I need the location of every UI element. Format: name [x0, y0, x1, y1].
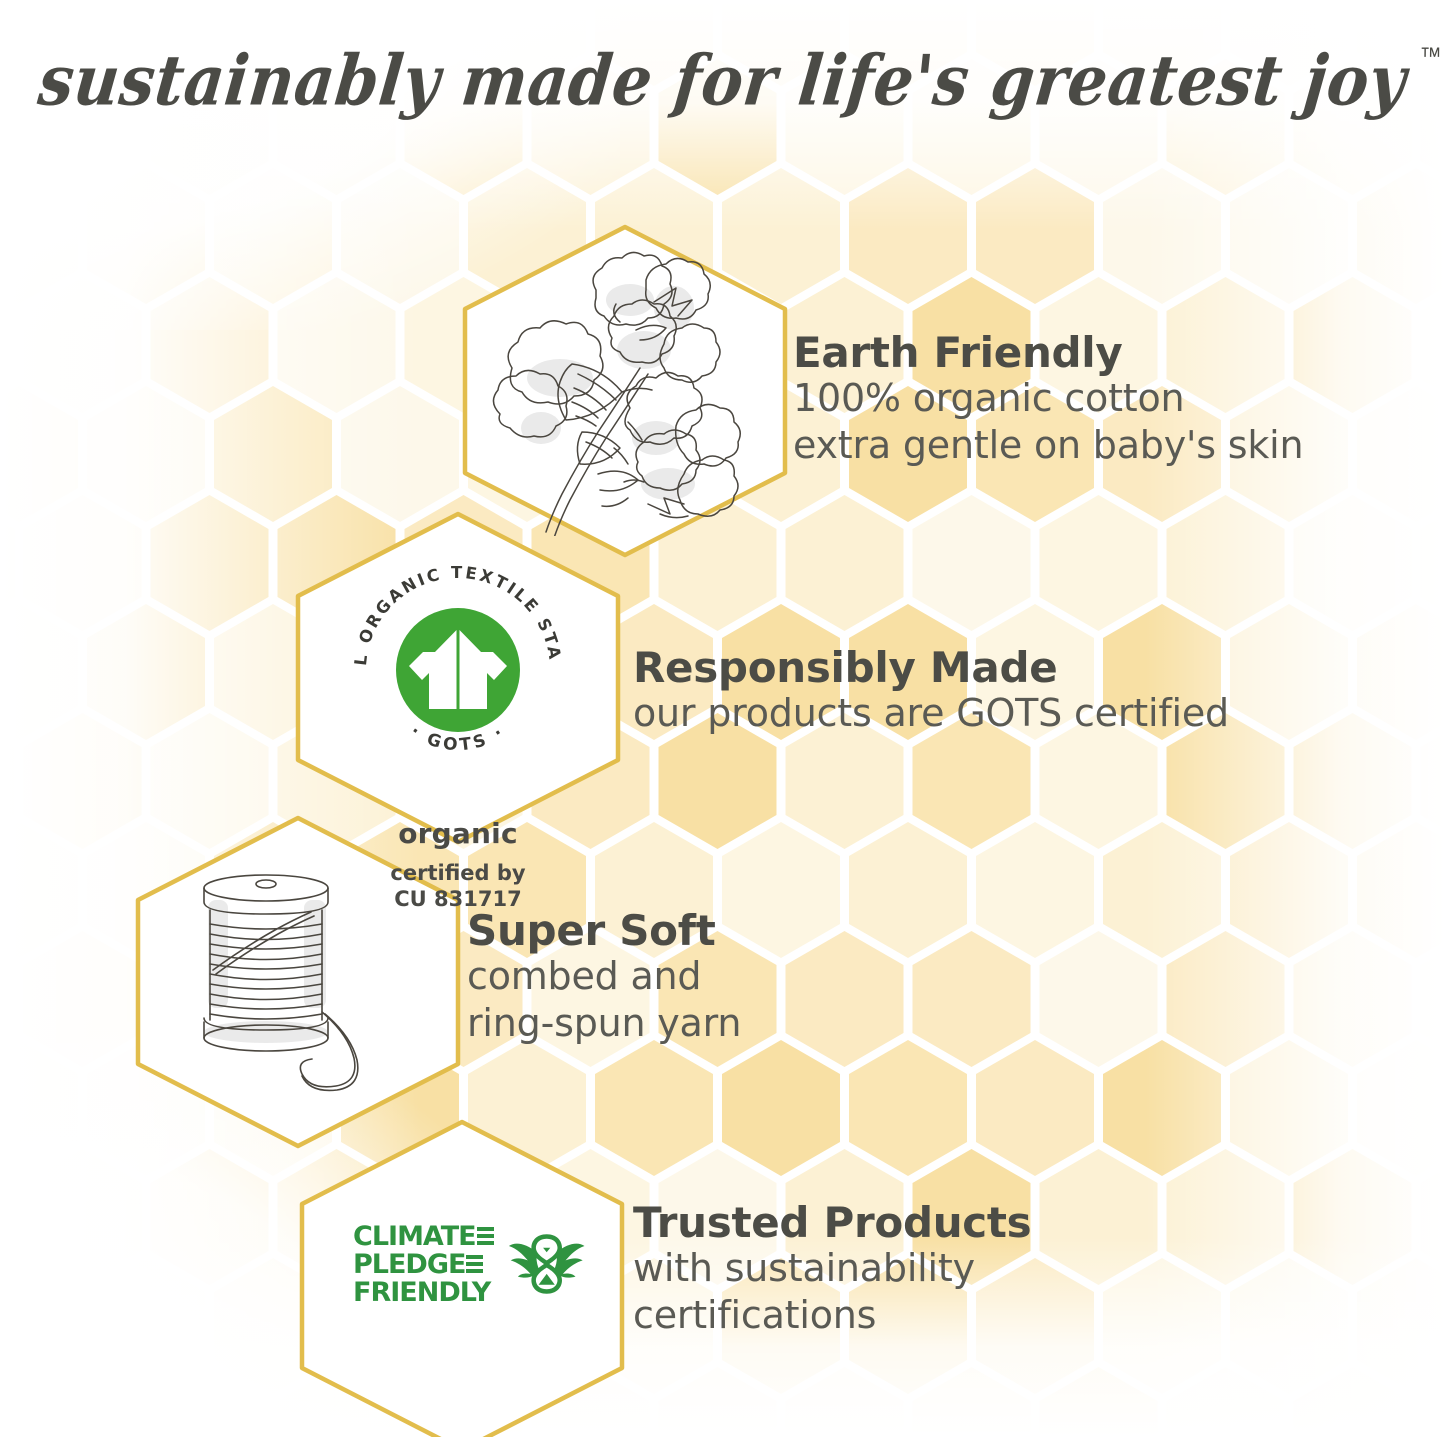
infographic-page: sustainably made for life's greatest joy…	[0, 0, 1445, 1437]
feature-line-responsibly-made-1: our products are GOTS certified	[633, 690, 1229, 737]
climate-pledge-line-3-text: FRIENDLY	[353, 1279, 490, 1306]
thread-spool-sketch-icon	[186, 862, 424, 1094]
tagline-text: sustainably made for life's greatest joy	[35, 40, 1410, 122]
feature-line-trusted-products-2: certifications	[633, 1292, 1031, 1339]
gots-organic-certification-icon: GLOBAL ORGANIC TEXTILE STANDARD · GOTS ·…	[343, 552, 573, 806]
feature-heading-earth-friendly: Earth Friendly	[793, 330, 1303, 375]
page-title: sustainably made for life's greatest joy…	[35, 40, 1410, 122]
climate-pledge-line-2: PLEDGE	[353, 1250, 494, 1278]
feature-heading-responsibly-made: Responsibly Made	[633, 645, 1229, 690]
feature-heading-super-soft: Super Soft	[467, 908, 741, 953]
feature-block-super-soft: Super Soft combed and ring-spun yarn	[467, 908, 741, 1048]
feature-line-super-soft-1: combed and	[467, 953, 741, 1000]
cotton-branch-sketch-icon	[478, 246, 774, 536]
feature-line-earth-friendly-2: extra gentle on baby's skin	[793, 422, 1303, 469]
climate-pledge-bars-1	[477, 1227, 494, 1245]
feature-line-super-soft-2: ring-spun yarn	[467, 1000, 741, 1047]
feature-line-earth-friendly-1: 100% organic cotton	[793, 375, 1303, 422]
feature-block-trusted-products: Trusted Products with sustainability cer…	[633, 1200, 1031, 1340]
feature-block-responsibly-made: Responsibly Made our products are GOTS c…	[633, 645, 1229, 737]
trademark-symbol: ™	[1420, 42, 1443, 71]
climate-pledge-line-3: FRIENDLY	[353, 1278, 494, 1306]
feature-line-trusted-products-1: with sustainability	[633, 1245, 1031, 1292]
climate-pledge-line-2-text: PLEDGE	[353, 1251, 465, 1278]
climate-pledge-friendly-icon: CLIMATE PLEDGE FRIENDLY	[353, 1224, 585, 1304]
climate-pledge-line-1: CLIMATE	[353, 1222, 494, 1250]
gots-organic-label: organic	[343, 817, 573, 850]
climate-pledge-line-1-text: CLIMATE	[353, 1223, 476, 1250]
winged-hourglass-icon	[508, 1225, 585, 1303]
tagline-container: sustainably made for life's greatest joy…	[0, 44, 1445, 117]
climate-pledge-wordmark: CLIMATE PLEDGE FRIENDLY	[353, 1222, 494, 1306]
climate-pledge-bars-2	[466, 1255, 483, 1273]
feature-heading-trusted-products: Trusted Products	[633, 1200, 1031, 1245]
feature-block-earth-friendly: Earth Friendly 100% organic cotton extra…	[793, 330, 1303, 470]
